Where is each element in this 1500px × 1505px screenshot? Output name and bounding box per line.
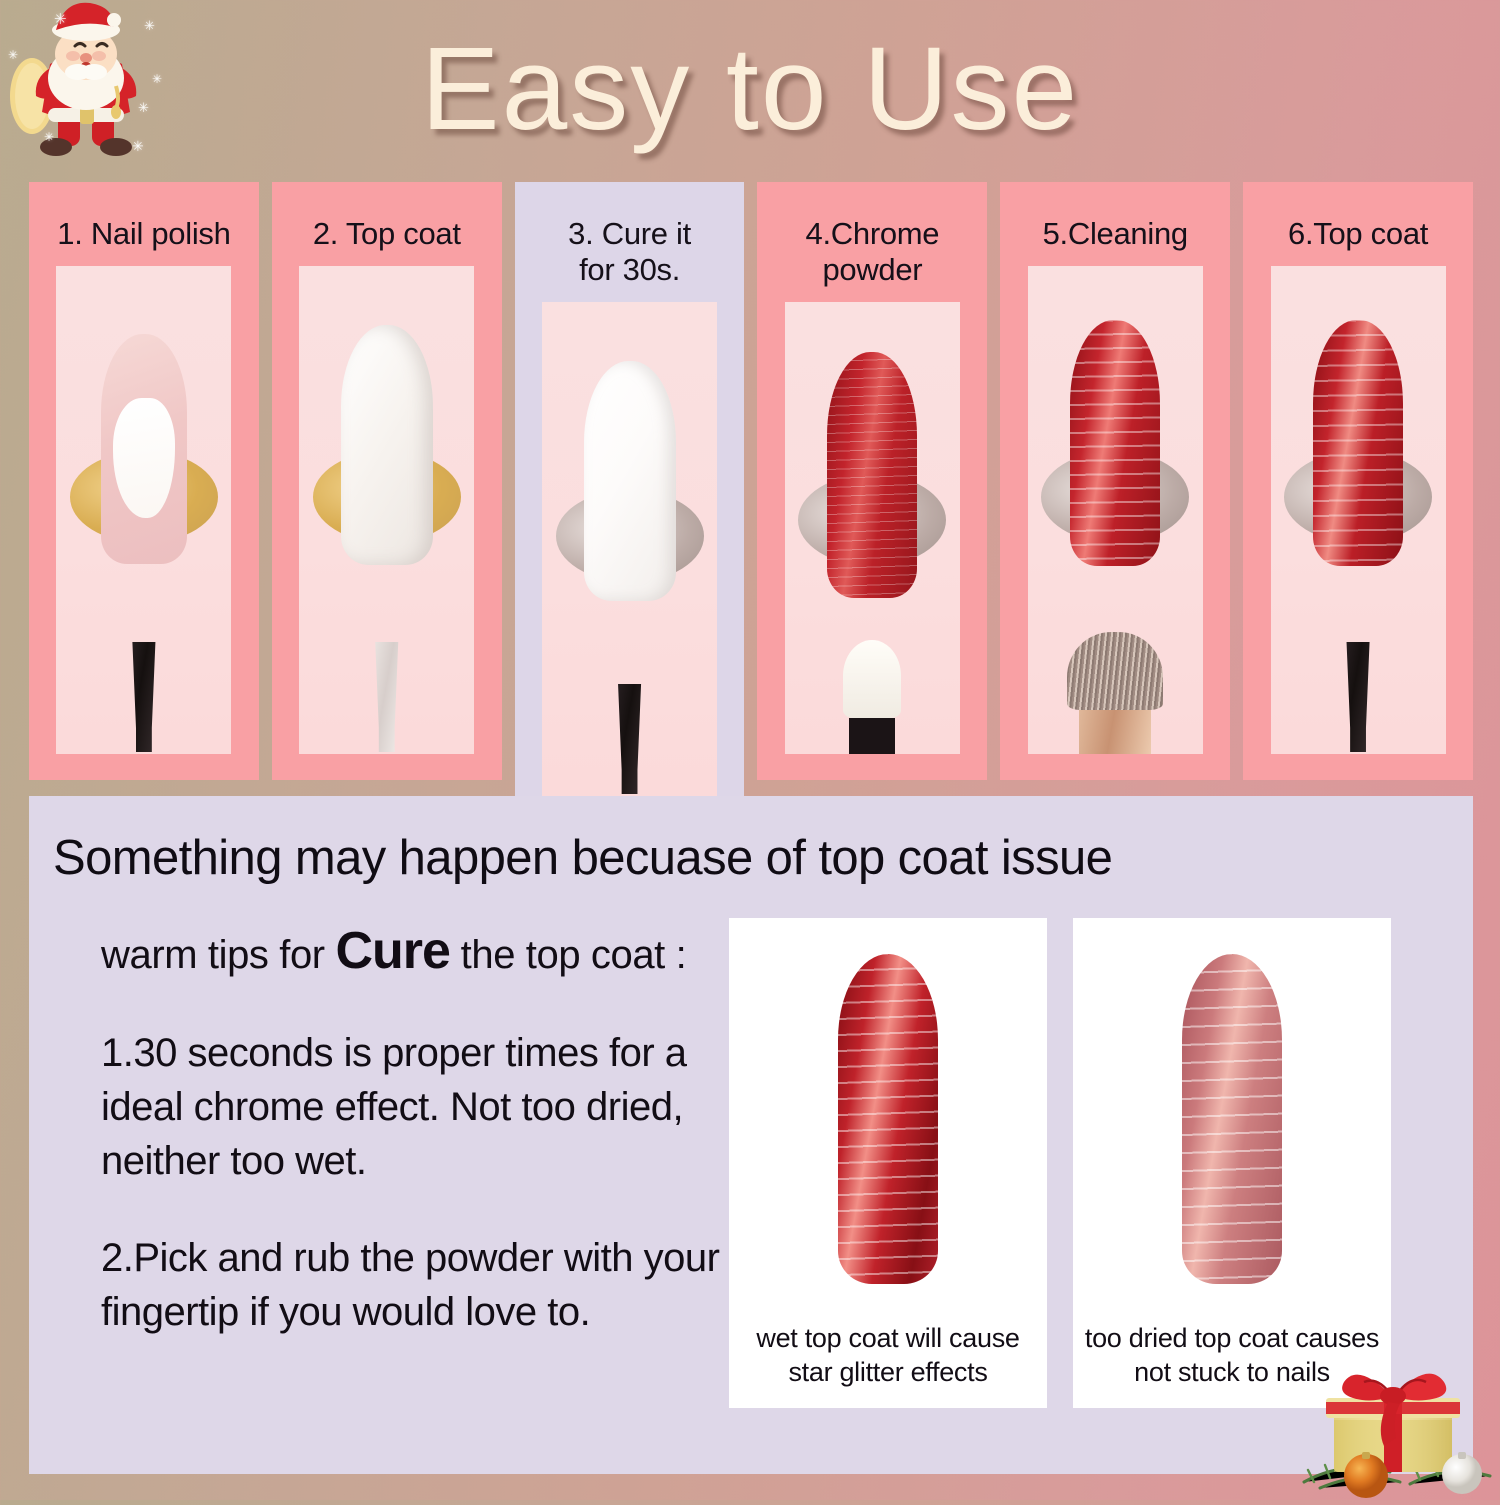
fan-brush-icon (1067, 632, 1163, 752)
red-chrome-glossy-nail-icon (1313, 320, 1403, 566)
step-photo-3 (542, 302, 717, 796)
step-title-3: 3. Cure it for 30s. (562, 182, 697, 288)
bottom-heading: Something may happen becuase of top coat… (29, 796, 1473, 886)
step-card-2[interactable]: 2. Top coat (272, 182, 502, 780)
step-card-3[interactable]: 3. Cure it for 30s. (515, 182, 745, 780)
lead-post: the top coat : (450, 933, 686, 977)
white-gel-stroke-icon (113, 398, 175, 518)
step-title-2: 2. Top coat (307, 182, 467, 252)
warm-tips-block: warm tips for Cure the top coat : 1.30 s… (29, 904, 729, 1408)
black-brush-icon (1340, 642, 1376, 752)
step-title-4: 4.Chrome powder (800, 182, 946, 288)
comparison-card-wet[interactable]: wet top coat will cause star glitter eff… (729, 918, 1047, 1408)
black-brush-icon (126, 642, 162, 752)
page-header: Easy to Use (0, 14, 1500, 164)
step-photo-5 (1028, 266, 1203, 754)
red-glitter-nail-icon (827, 352, 917, 598)
step-photo-6 (1271, 266, 1446, 754)
step-title-6: 6.Top coat (1282, 182, 1434, 252)
steps-row: 1. Nail polish 2. Top coat 3. Cure it fo… (29, 182, 1473, 780)
lead-pre: warm tips for (101, 933, 335, 977)
christmas-gift-icon (1300, 1332, 1496, 1500)
white-cured-nail-icon (584, 361, 676, 601)
page-title: Easy to Use (421, 21, 1079, 157)
step-photo-1 (56, 266, 231, 754)
top-coat-issue-panel: Something may happen becuase of top coat… (29, 796, 1473, 1474)
step-card-6[interactable]: 6.Top coat (1243, 182, 1473, 780)
red-chrome-nail-icon (1070, 320, 1160, 566)
dull-rose-chrome-nail-icon (1182, 954, 1282, 1284)
tip-2: 2.Pick and rub the powder with your fing… (101, 1232, 729, 1339)
comparison-image-wet (729, 918, 1047, 1321)
step-photo-2 (299, 266, 474, 754)
step-title-1: 1. Nail polish (51, 182, 236, 252)
white-nail-icon (341, 325, 433, 565)
step-title-5: 5.Cleaning (1037, 182, 1194, 252)
warm-tips-lead: warm tips for Cure the top coat : (101, 920, 729, 983)
step-photo-4 (785, 302, 960, 754)
step-card-1[interactable]: 1. Nail polish (29, 182, 259, 780)
deep-red-chrome-nail-icon (838, 954, 938, 1284)
comparison-caption-wet: wet top coat will cause star glitter eff… (729, 1321, 1047, 1408)
tip-1: 1.30 seconds is proper times for a ideal… (101, 1027, 729, 1188)
sponge-applicator-icon (843, 640, 901, 752)
black-brush-icon (612, 684, 648, 794)
comparison-row: wet top coat will cause star glitter eff… (729, 904, 1391, 1408)
clear-brush-icon (369, 642, 405, 752)
step-card-5[interactable]: 5.Cleaning (1000, 182, 1230, 780)
comparison-image-dried (1073, 918, 1391, 1321)
step-card-4[interactable]: 4.Chrome powder (757, 182, 987, 780)
lead-strong-cure: Cure (335, 922, 449, 980)
